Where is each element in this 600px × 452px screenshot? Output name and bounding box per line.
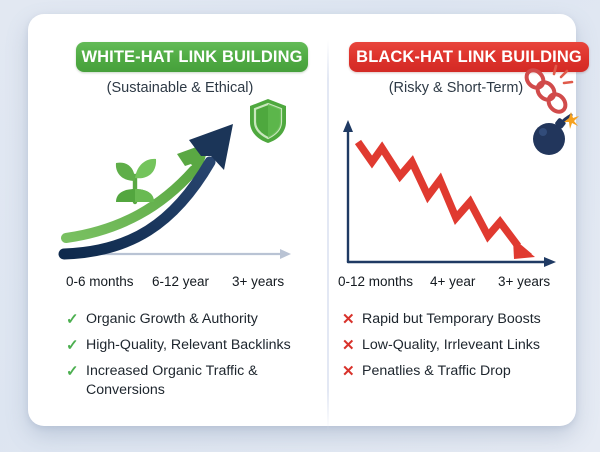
white-hat-axis-label-1: 0-6 months bbox=[66, 274, 152, 289]
list-item: ✕ Rapid but Temporary Boosts bbox=[342, 310, 592, 329]
panel-white-hat: WHITE-HAT LINK BUILDING (Sustainable & E… bbox=[44, 28, 316, 428]
white-hat-bullet-list: ✓ Organic Growth & Authority ✓ High-Qual… bbox=[66, 310, 316, 407]
infographic-stage: WHITE-HAT LINK BUILDING (Sustainable & E… bbox=[0, 0, 600, 452]
black-hat-axis-label-3: 3+ years bbox=[498, 274, 550, 289]
check-icon: ✓ bbox=[66, 310, 86, 329]
white-hat-badge: WHITE-HAT LINK BUILDING bbox=[76, 42, 308, 72]
check-icon: ✓ bbox=[66, 336, 86, 355]
list-item: ✓ Organic Growth & Authority bbox=[66, 310, 316, 329]
bullet-text: Penatlies & Traffic Drop bbox=[362, 362, 511, 381]
seedling-icon bbox=[104, 150, 166, 212]
bullet-text: High-Quality, Relevant Backlinks bbox=[86, 336, 291, 355]
bomb-icon bbox=[528, 110, 580, 160]
bullet-text: Rapid but Temporary Boosts bbox=[362, 310, 541, 329]
white-hat-axis-labels: 0-6 months 6-12 year 3+ years bbox=[44, 274, 338, 289]
bullet-text: Low-Quality, Irrleveant Links bbox=[362, 336, 540, 355]
black-hat-axis-labels: 0-12 months 4+ year 3+ years bbox=[320, 274, 600, 289]
panel-black-hat: BLACK-HAT LINK BUILDING (Risky & Short-T… bbox=[320, 28, 592, 428]
white-hat-axis-label-2: 6-12 year bbox=[152, 274, 232, 289]
list-item: ✓ Increased Organic Traffic & Conversion… bbox=[66, 362, 316, 400]
black-hat-axis-label-2: 4+ year bbox=[430, 274, 498, 289]
check-icon: ✓ bbox=[66, 362, 86, 381]
shield-icon bbox=[246, 96, 290, 146]
infographic-card: WHITE-HAT LINK BUILDING (Sustainable & E… bbox=[28, 14, 576, 426]
bullet-text: Increased Organic Traffic & Conversions bbox=[86, 362, 316, 400]
list-item: ✓ High-Quality, Relevant Backlinks bbox=[66, 336, 316, 355]
cross-icon: ✕ bbox=[342, 310, 362, 329]
white-hat-subtitle: (Sustainable & Ethical) bbox=[44, 80, 316, 96]
list-item: ✕ Low-Quality, Irrleveant Links bbox=[342, 336, 592, 355]
black-hat-axis-label-1: 0-12 months bbox=[338, 274, 430, 289]
cross-icon: ✕ bbox=[342, 362, 362, 381]
list-item: ✕ Penatlies & Traffic Drop bbox=[342, 362, 592, 381]
black-hat-bullet-list: ✕ Rapid but Temporary Boosts ✕ Low-Quali… bbox=[342, 310, 592, 388]
bullet-text: Organic Growth & Authority bbox=[86, 310, 258, 329]
red-decline-line bbox=[358, 142, 535, 259]
cross-icon: ✕ bbox=[342, 336, 362, 355]
white-hat-axis-label-3: 3+ years bbox=[232, 274, 284, 289]
